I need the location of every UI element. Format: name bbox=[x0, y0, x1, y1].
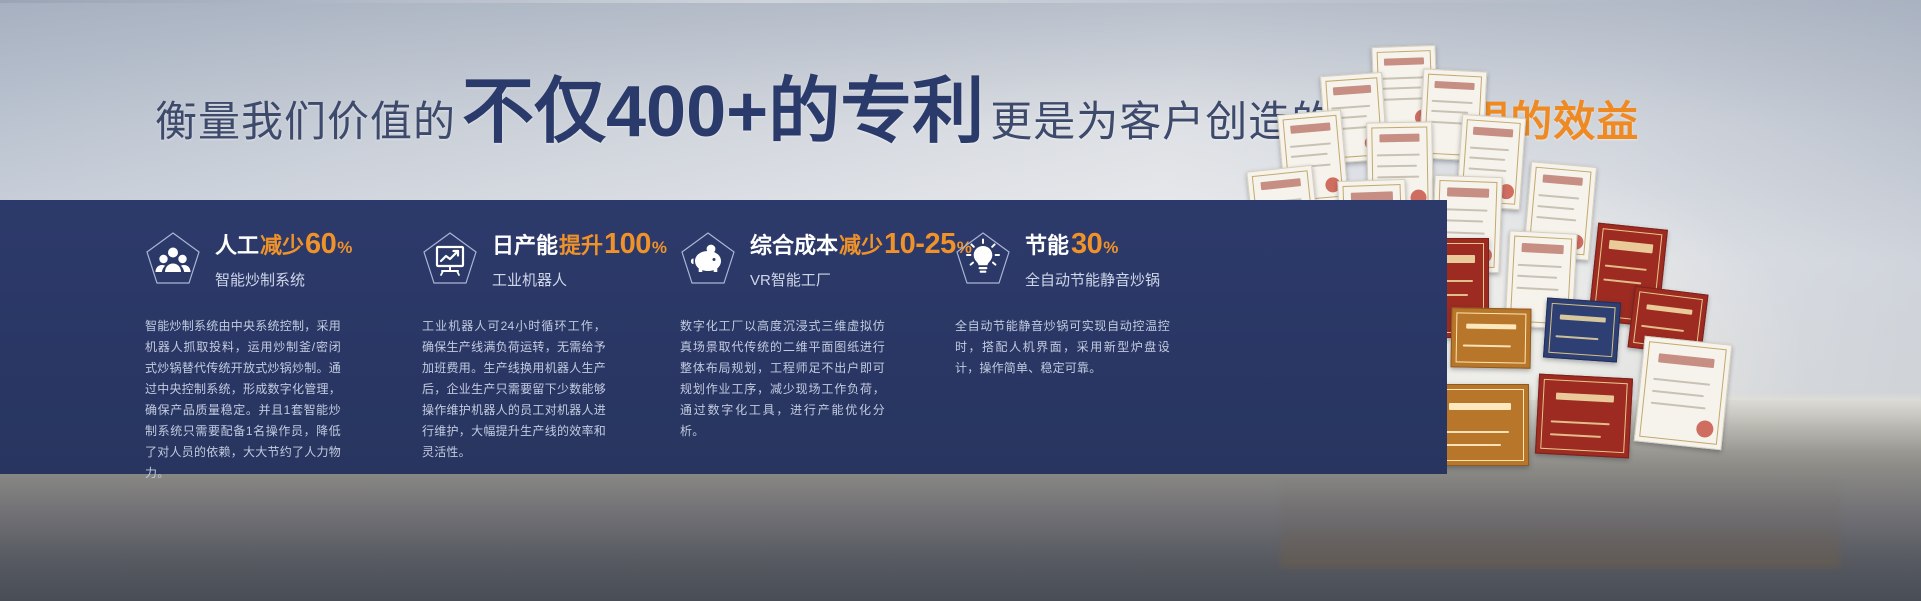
feature-item-2: 日产能 提升 100 % 工业机器人 工业机器人可24小时循环工作，确保生产线满… bbox=[422, 222, 680, 484]
feature-item-3: 综合成本 减少 10-25 % VR智能工厂 数字化工厂以高度沉浸式三维虚拟仿真… bbox=[680, 222, 955, 484]
feature-item-4: 节能 30 % 全自动节能静音炒锅 全自动节能静音炒锅可实现自动控温控时，搭配人… bbox=[955, 222, 1255, 484]
feature-title-percent: % bbox=[1103, 238, 1118, 258]
feature-title-3: 综合成本 减少 10-25 % bbox=[750, 228, 972, 261]
feature-title-prefix: 人工 bbox=[215, 233, 259, 258]
feature-title-accent: 提升 bbox=[559, 233, 603, 258]
people-group-icon bbox=[145, 231, 201, 287]
feature-body-1: 智能炒制系统由中央系统控制，采用机器人抓取投料，运用炒制釜/密闭式炒锅替代传统开… bbox=[145, 316, 341, 484]
feature-panel: 人工 减少 60 % 智能炒制系统 智能炒制系统由中央系统控制，采用机器人抓取投… bbox=[0, 200, 1447, 474]
feature-title-number: 100 bbox=[604, 228, 651, 261]
feature-body-4: 全自动节能静音炒锅可实现自动控温控时，搭配人机界面，采用新型炉盘设计，操作简单、… bbox=[955, 316, 1170, 379]
feature-title-accent: 减少 bbox=[839, 233, 883, 258]
feature-title-number: 60 bbox=[305, 228, 336, 261]
feature-title-prefix: 日产能 bbox=[492, 233, 558, 258]
background-top-divider bbox=[0, 0, 1921, 3]
feature-title-number: 10-25 bbox=[884, 228, 956, 261]
feature-item-1: 人工 减少 60 % 智能炒制系统 智能炒制系统由中央系统控制，采用机器人抓取投… bbox=[145, 222, 422, 484]
certificate-plaque bbox=[1450, 307, 1531, 368]
piggy-bank-icon bbox=[680, 231, 736, 287]
feature-title-prefix: 综合成本 bbox=[750, 233, 838, 258]
feature-subtitle-3: VR智能工厂 bbox=[750, 269, 972, 290]
feature-title-prefix: 节能 bbox=[1025, 233, 1069, 258]
certificate-reflection bbox=[1280, 478, 1840, 568]
feature-title-1: 人工 减少 60 % bbox=[215, 228, 352, 261]
chart-board-icon bbox=[422, 231, 478, 287]
feature-subtitle-4: 全自动节能静音炒锅 bbox=[1025, 269, 1160, 290]
feature-title-percent: % bbox=[652, 238, 667, 258]
certificate-item bbox=[1634, 336, 1733, 451]
feature-body-2: 工业机器人可24小时循环工作，确保生产线满负荷运转，无需给予加班费用。生产线换用… bbox=[422, 316, 606, 463]
feature-subtitle-2: 工业机器人 bbox=[492, 269, 667, 290]
feature-title-percent: % bbox=[337, 238, 352, 258]
certificate-plaque bbox=[1535, 374, 1633, 459]
feature-subtitle-1: 智能炒制系统 bbox=[215, 269, 352, 290]
feature-title-4: 节能 30 % bbox=[1025, 228, 1160, 261]
feature-title-2: 日产能 提升 100 % bbox=[492, 228, 667, 261]
feature-title-number: 30 bbox=[1071, 228, 1102, 261]
lightbulb-icon bbox=[955, 231, 1011, 287]
feature-body-3: 数字化工厂以高度沉浸式三维虚拟仿真场景取代传统的二维平面图纸进行整体布局规划，工… bbox=[680, 316, 885, 442]
headline-emphasis: 不仅400+的专利 bbox=[462, 78, 984, 146]
feature-title-accent: 减少 bbox=[260, 233, 304, 258]
feature-list: 人工 减少 60 % 智能炒制系统 智能炒制系统由中央系统控制，采用机器人抓取投… bbox=[145, 222, 1423, 484]
banner-stage: 衡量我们价值的 不仅400+的专利 更是为客户创造的 真金白银的效益 bbox=[0, 0, 1921, 601]
headline-lead: 衡量我们价值的 bbox=[155, 88, 456, 149]
certificate-plaque bbox=[1543, 297, 1621, 362]
